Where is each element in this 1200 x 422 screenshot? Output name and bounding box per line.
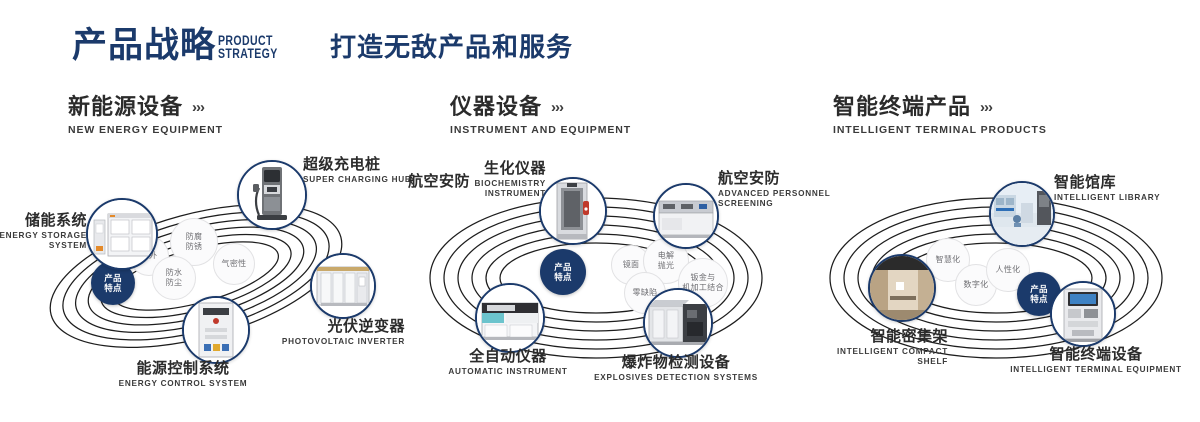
intelligent-library-photo bbox=[991, 183, 1053, 245]
diagram-intelligent: 智慧化 数字化 人性化 产品特点 智能馆库 IN bbox=[800, 148, 1200, 404]
diagram-new-energy: 防腐防锈 户外 防水防尘 气密性 产品特点 储能系统 ENERGY STOR bbox=[0, 148, 400, 404]
node-label-energy-control-system: 能源控制系统 ENERGY CONTROL SYSTEM bbox=[78, 360, 288, 389]
section-title-cn: 仪器设备››› bbox=[450, 96, 631, 118]
poster-header: 产品战略 PRODUCT STRATEGY 打造无敌产品和服务 bbox=[0, 0, 1200, 88]
node-intelligent-library[interactable] bbox=[989, 181, 1055, 247]
section-title-intelligent: 智能终端产品››› INTELLIGENT TERMINAL PRODUCTS bbox=[833, 96, 1047, 136]
section-title-cn-text: 智能终端产品 bbox=[833, 94, 971, 119]
aux-label-aviation-security: 航空安防 bbox=[408, 173, 470, 190]
node-label-cn: 爆炸物检测设备 bbox=[585, 354, 767, 371]
node-label-en: INTELLIGENT TERMINAL EQUIPMENT bbox=[996, 365, 1196, 375]
node-advanced-personnel-screening[interactable] bbox=[653, 183, 719, 249]
node-energy-storage-system[interactable] bbox=[86, 198, 158, 270]
node-label-cn: 智能馆库 bbox=[1054, 174, 1160, 191]
biochemistry-instrument-photo bbox=[541, 179, 605, 243]
node-label-energy-storage-system: 储能系统 ENERGY STORAGESYSTEM bbox=[0, 212, 87, 251]
advanced-personnel-screening-photo bbox=[655, 185, 717, 247]
page-title-english-line2: STRATEGY bbox=[218, 47, 278, 60]
poster-canvas: 产品战略 PRODUCT STRATEGY 打造无敌产品和服务 新能源设备›››… bbox=[0, 0, 1200, 422]
page-title: 产品战略 bbox=[72, 28, 216, 63]
intelligent-terminal-equipment-photo bbox=[1052, 283, 1114, 345]
section-title-cn-text: 新能源设备 bbox=[68, 94, 183, 119]
node-label-cn: 智能终端设备 bbox=[996, 346, 1196, 363]
section-title-new-energy: 新能源设备››› NEW ENERGY EQUIPMENT bbox=[68, 96, 223, 136]
section-title-en: INTELLIGENT TERMINAL PRODUCTS bbox=[833, 125, 1047, 136]
node-label-en: INTELLIGENT COMPACTSHELF bbox=[784, 347, 948, 367]
node-photovoltaic-inverter[interactable] bbox=[310, 253, 376, 319]
node-super-charging-hub[interactable] bbox=[237, 160, 307, 230]
node-label-automatic-instrument: 全自动仪器 AUTOMATIC INSTRUMENT bbox=[420, 348, 596, 377]
node-label-en: EXPLOSIVES DETECTION SYSTEMS bbox=[585, 373, 767, 383]
node-label-intelligent-compact-shelf: 智能密集架 INTELLIGENT COMPACTSHELF bbox=[784, 328, 948, 367]
energy-control-system-photo bbox=[184, 298, 248, 362]
node-label-intelligent-terminal-equipment: 智能终端设备 INTELLIGENT TERMINAL EQUIPMENT bbox=[996, 346, 1196, 375]
diagram-instrument: 镜面 电解抛光 钣金与机加工结合 零缺陷 产品特点 生化仪器 BIOCHEMIS… bbox=[400, 148, 800, 404]
node-biochemistry-instrument[interactable] bbox=[539, 177, 607, 245]
node-label-explosives-detection-systems: 爆炸物检测设备 EXPLOSIVES DETECTION SYSTEMS bbox=[585, 354, 767, 383]
node-label-en: ENERGY STORAGESYSTEM bbox=[0, 231, 87, 251]
page-title-english: PRODUCT STRATEGY bbox=[218, 34, 278, 60]
node-intelligent-terminal-equipment[interactable] bbox=[1050, 281, 1116, 347]
node-label-en: AUTOMATIC INSTRUMENT bbox=[420, 367, 596, 377]
node-label-cn: 智能密集架 bbox=[784, 328, 948, 345]
chevron-right-icon: ››› bbox=[980, 100, 992, 115]
energy-storage-photo bbox=[88, 200, 156, 268]
node-label-cn: 超级充电桩 bbox=[303, 156, 412, 173]
node-automatic-instrument[interactable] bbox=[475, 283, 545, 353]
intelligent-compact-shelf-photo bbox=[870, 256, 934, 320]
photovoltaic-inverter-photo bbox=[312, 255, 374, 317]
node-intelligent-compact-shelf[interactable] bbox=[868, 254, 936, 322]
feature-bubble-waterproof: 防水防尘 bbox=[152, 256, 196, 300]
section-title-instrument: 仪器设备››› INSTRUMENT AND EQUIPMENT bbox=[450, 96, 631, 136]
chevron-right-icon: ››› bbox=[192, 100, 204, 115]
node-label-en: ENERGY CONTROL SYSTEM bbox=[78, 379, 288, 389]
node-explosives-detection-systems[interactable] bbox=[643, 288, 713, 358]
node-label-cn: 能源控制系统 bbox=[78, 360, 288, 377]
section-title-en: NEW ENERGY EQUIPMENT bbox=[68, 125, 223, 136]
section-title-cn-text: 仪器设备 bbox=[450, 94, 542, 119]
core-bubble-product-features: 产品特点 bbox=[540, 249, 586, 295]
chevron-right-icon: ››› bbox=[551, 100, 563, 115]
explosives-detection-photo bbox=[645, 290, 711, 356]
section-title-en: INSTRUMENT AND EQUIPMENT bbox=[450, 125, 631, 136]
node-label-en: INTELLIGENT LIBRARY bbox=[1054, 193, 1160, 203]
super-charging-hub-photo bbox=[239, 162, 305, 228]
feature-bubble-airtight: 气密性 bbox=[213, 243, 255, 285]
node-label-super-charging-hub: 超级充电桩 SUPER CHARGING HUB bbox=[303, 156, 412, 185]
node-label-cn: 储能系统 bbox=[0, 212, 87, 229]
section-title-cn: 新能源设备››› bbox=[68, 96, 223, 118]
automatic-instrument-photo bbox=[477, 285, 543, 351]
page-subtitle: 打造无敌产品和服务 bbox=[330, 34, 573, 60]
node-label-intelligent-library: 智能馆库 INTELLIGENT LIBRARY bbox=[1054, 174, 1160, 203]
node-label-cn: 全自动仪器 bbox=[420, 348, 596, 365]
node-energy-control-system[interactable] bbox=[182, 296, 250, 364]
section-title-cn: 智能终端产品››› bbox=[833, 96, 1047, 118]
node-label-en: SUPER CHARGING HUB bbox=[303, 175, 412, 185]
